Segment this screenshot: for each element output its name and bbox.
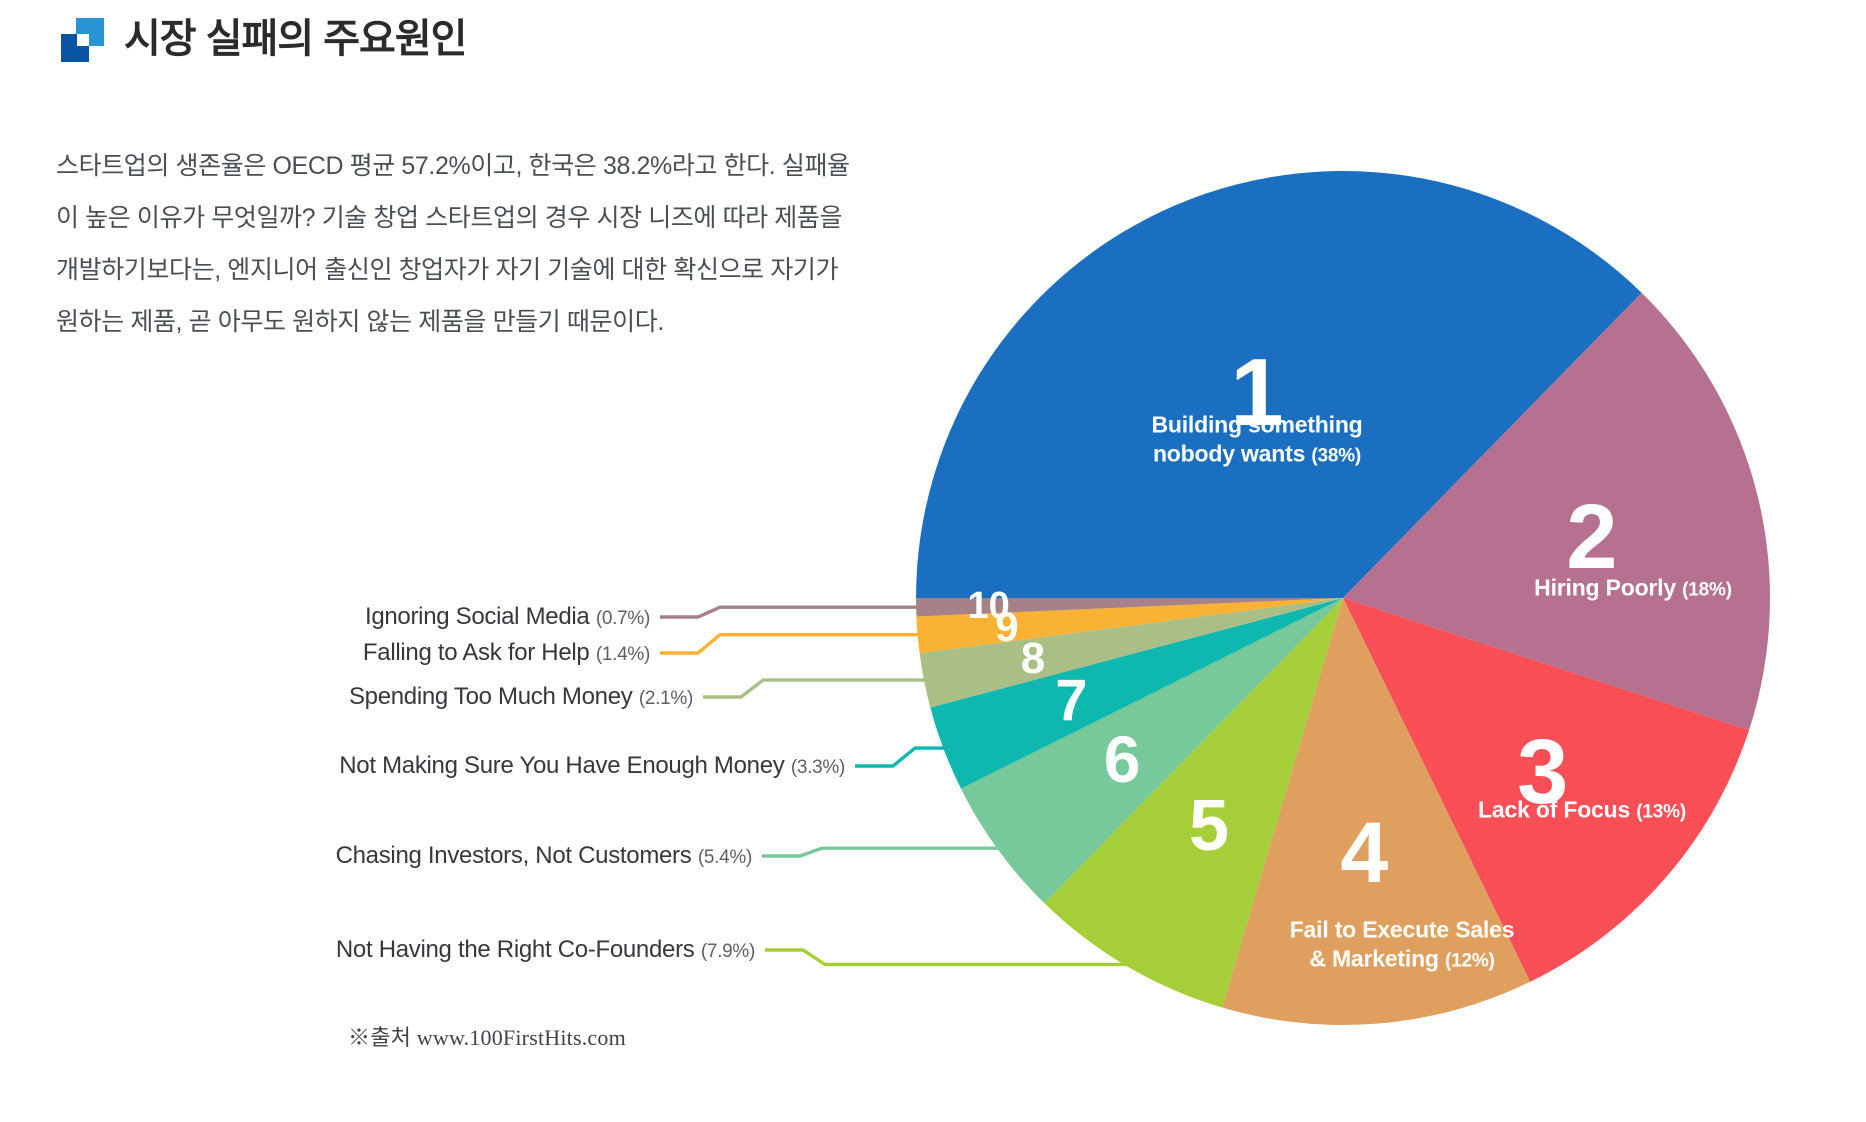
pie-slice-label-line1-1: Building something: [1151, 411, 1362, 440]
pie-slice-label-line1-4: Fail to Execute Sales: [1290, 916, 1515, 945]
pie-slice-label-2: Hiring Poorly (18%): [1534, 573, 1732, 602]
intro-line-4: 원하는 제품, 곧 아무도 원하지 않는 제품을 만들기 때문이다.: [56, 296, 956, 348]
pie-callout-percent-8: (2.1%): [639, 688, 693, 709]
pie-slice-percent-1: (38%): [1311, 446, 1361, 467]
page-title: 시장 실패의 주요원인: [124, 19, 466, 59]
pie-callout-10: Ignoring Social Media (0.7%): [0, 603, 650, 631]
pie-slice-label-1: Building somethingnobody wants (38%): [1151, 411, 1362, 470]
page-root: 시장 실패의 주요원인 스타트업의 생존율은 OECD 평균 57.2%이고, …: [0, 0, 1866, 1122]
pie-rank-number-6: 6: [1104, 726, 1141, 792]
pie-rank-number-10: 10: [968, 587, 1010, 625]
leader-line-5: [765, 950, 1128, 964]
leader-line-group: [660, 607, 1128, 964]
logo-notch: [77, 34, 89, 46]
pie-callout-percent-10: (0.7%): [596, 608, 650, 629]
pie-slice-label-4: Fail to Execute Sales& Marketing (12%): [1290, 916, 1515, 975]
pie-callout-6: Chasing Investors, Not Customers (5.4%): [0, 842, 752, 870]
logo-squares-icon: [58, 16, 104, 62]
pie-callout-percent-9: (1.4%): [596, 644, 650, 665]
pie-slice-percent-3: (13%): [1636, 801, 1686, 822]
pie-slice-label-3: Lack of Focus (13%): [1478, 795, 1686, 824]
pie-rank-number-7: 7: [1055, 672, 1087, 730]
pie-rank-number-8: 8: [1021, 637, 1045, 681]
intro-line-2: 이 높은 이유가 무엇일까? 기술 창업 스타트업의 경우 시장 니즈에 따라 …: [56, 192, 956, 244]
pie-callout-5: Not Having the Right Co-Founders (7.9%): [0, 936, 755, 964]
pie-callout-percent-7: (3.3%): [791, 757, 845, 778]
pie-rank-number-5: 5: [1189, 790, 1229, 862]
leader-line-9: [660, 635, 920, 653]
source-note: ※출처 www.100FirstHits.com: [348, 1020, 626, 1052]
pie-slice-label-line2-4: & Marketing (12%): [1290, 945, 1515, 974]
leader-line-6: [762, 848, 1000, 856]
intro-line-1: 스타트업의 생존율은 OECD 평균 57.2%이고, 한국은 38.2%라고 …: [56, 140, 956, 192]
pie-callout-percent-6: (5.4%): [698, 847, 752, 868]
leader-line-10: [660, 607, 918, 617]
intro-paragraph: 스타트업의 생존율은 OECD 평균 57.2%이고, 한국은 38.2%라고 …: [56, 140, 956, 348]
pie-slice-percent-2: (18%): [1682, 579, 1732, 600]
pie-callout-7: Not Making Sure You Have Enough Money (3…: [0, 752, 845, 780]
page-header: 시장 실패의 주요원인: [58, 16, 466, 62]
pie-callout-8: Spending Too Much Money (2.1%): [0, 683, 693, 711]
pie-rank-number-4: 4: [1340, 810, 1388, 896]
pie-rank-number-2: 2: [1566, 491, 1617, 583]
pie-callout-9: Falling to Ask for Help (1.4%): [0, 639, 650, 667]
pie-slice-percent-4: (12%): [1445, 951, 1495, 972]
leader-line-7: [855, 748, 946, 766]
pie-slice-2[interactable]: [1343, 293, 1770, 730]
leader-line-8: [703, 680, 926, 697]
pie-slice-label-line2-1: nobody wants (38%): [1151, 440, 1362, 469]
pie-callout-percent-5: (7.9%): [701, 941, 755, 962]
intro-line-3: 개발하기보다는, 엔지니어 출신인 창업자가 자기 기술에 대한 확신으로 자기…: [56, 244, 956, 296]
